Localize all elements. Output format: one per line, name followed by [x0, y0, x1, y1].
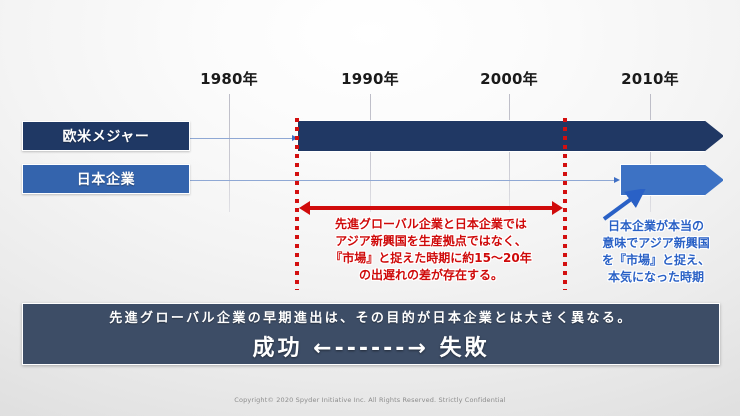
category-box-japanese[interactable]: 日本企業 [22, 164, 190, 194]
connector-line-majors [190, 138, 295, 139]
category-label-japanese: 日本企業 [77, 169, 135, 189]
grid-tick-2000 [509, 94, 510, 212]
timeline-bar-majors[interactable] [297, 120, 724, 152]
copyright-footer: Copyright© 2020 Spyder Initiative Inc. A… [0, 396, 740, 404]
slide-canvas: 1980年 1990年 2000年 2010年 欧米メジャー 日本企業 先進グロ… [0, 0, 740, 416]
gap-arrow-line [310, 206, 552, 210]
grid-tick-1980 [229, 94, 230, 212]
connector-arrowhead-japanese [614, 177, 620, 183]
connector-line-japanese [190, 180, 618, 181]
grid-tick-1990 [370, 94, 371, 212]
banner-headline: 先進グローバル企業の早期進出は、その目的が日本企業とは大きく異なる。 [109, 307, 632, 326]
category-label-majors: 欧米メジャー [63, 126, 150, 146]
gap-arrow-head-left [299, 201, 310, 215]
gap-arrow-head-right [552, 201, 563, 215]
category-box-majors[interactable]: 欧米メジャー [22, 121, 190, 151]
note-blue: 日本企業が本当の 意味でアジア新興国 を『市場』と捉え、 本気になった時期 [586, 218, 726, 286]
note-red: 先進グローバル企業と日本企業では アジア新興国を生産拠点ではなく、 『市場』と捉… [302, 216, 560, 284]
year-label-2000: 2000年 [480, 68, 538, 89]
callout-arrow-icon [598, 189, 650, 221]
summary-banner: 先進グローバル企業の早期進出は、その目的が日本企業とは大きく異なる。 成功 ←-… [22, 303, 720, 365]
year-label-1990: 1990年 [341, 68, 399, 89]
year-label-2010: 2010年 [621, 68, 679, 89]
guide-line-right [563, 118, 567, 290]
banner-subline: 成功 ←------→ 失敗 [253, 330, 490, 362]
year-label-1980: 1980年 [200, 68, 258, 89]
